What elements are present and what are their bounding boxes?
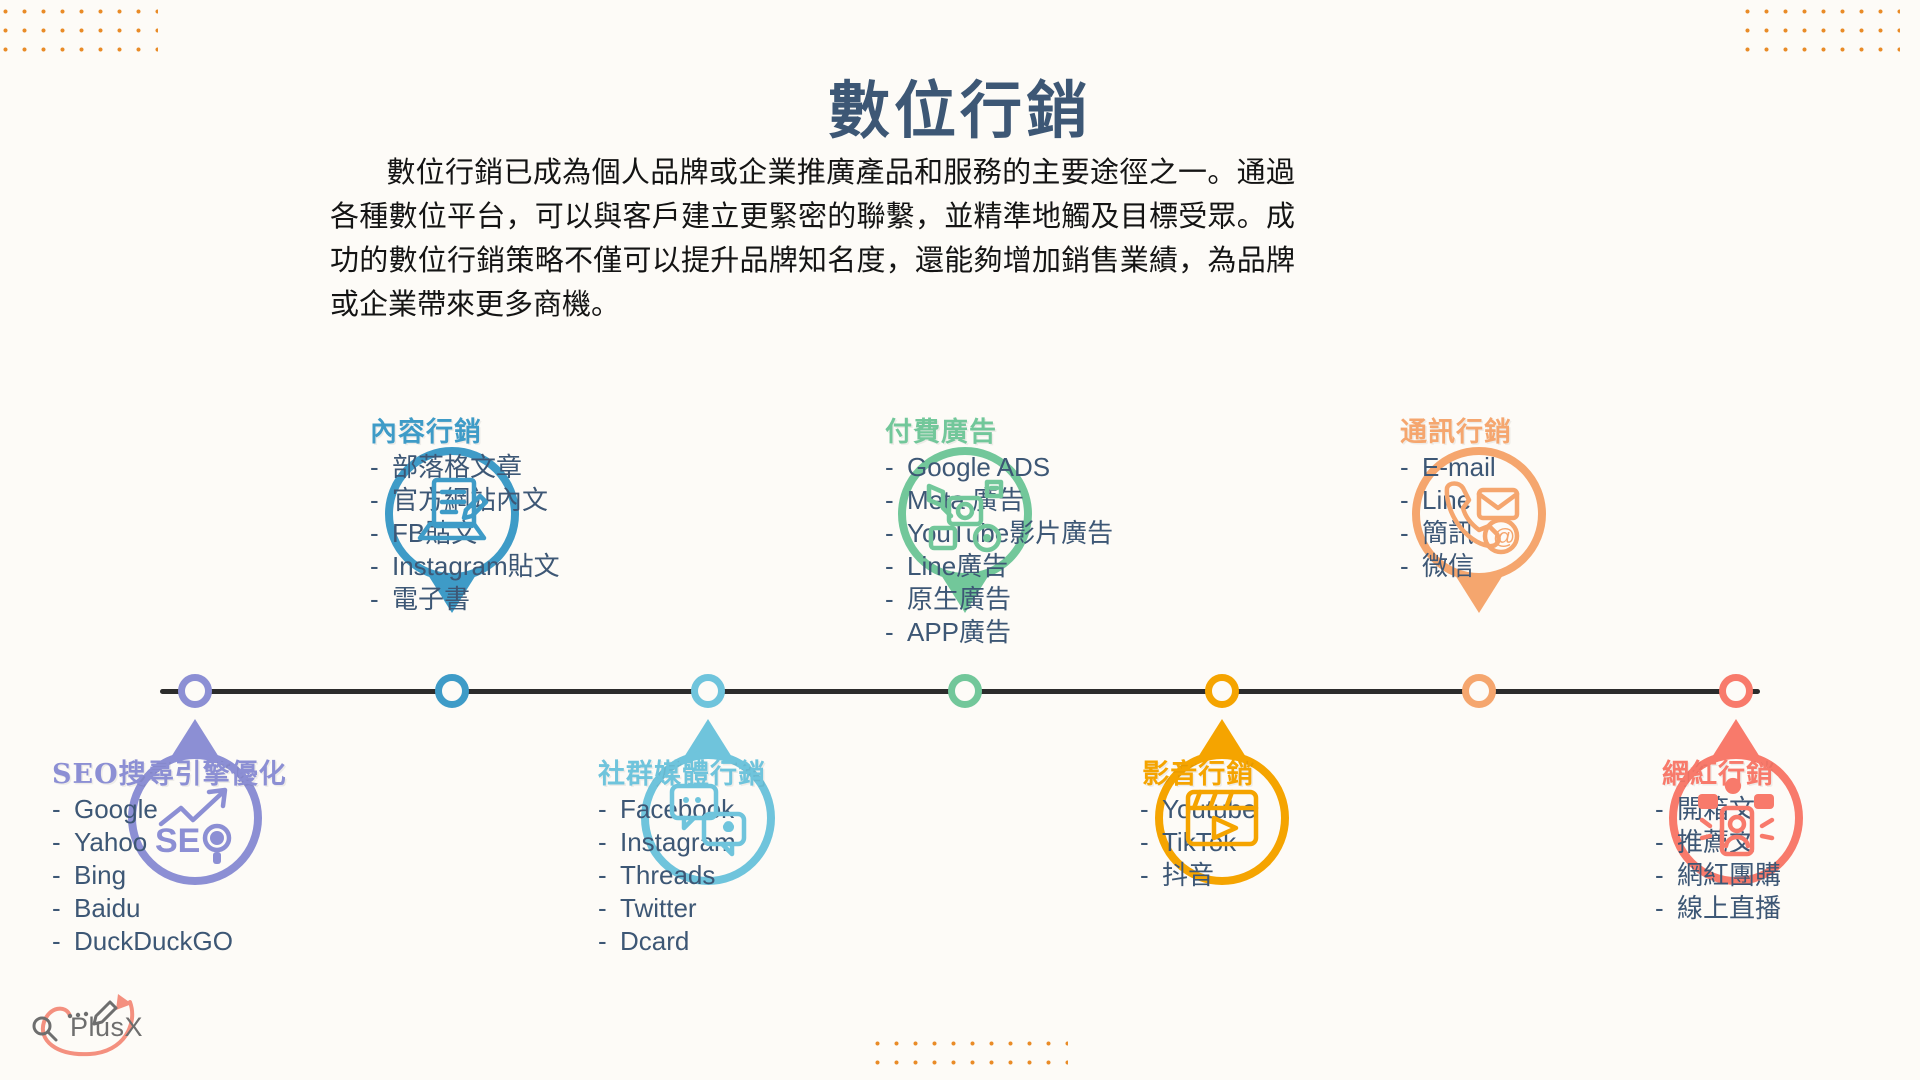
timeline-node-social[interactable] — [691, 674, 725, 708]
pin-influencer[interactable] — [1669, 751, 1803, 885]
logo-text: PlusX — [70, 1012, 143, 1043]
decor-dots-top-left — [0, 2, 158, 64]
timeline-node-messaging[interactable] — [1462, 674, 1496, 708]
pin-social[interactable] — [641, 751, 775, 885]
decor-dots-bottom-center — [868, 1034, 1068, 1078]
phone-email-icon: @ — [1412, 447, 1546, 581]
list-item: 原生廣告 — [885, 583, 1113, 616]
list-item: 線上直播 — [1655, 892, 1781, 925]
section-title-paid-ads: 付費廣告 — [885, 410, 1113, 449]
timeline-node-influencer[interactable] — [1719, 674, 1753, 708]
svg-text:@: @ — [1493, 524, 1515, 549]
timeline-node-seo[interactable] — [178, 674, 212, 708]
timeline-node-content[interactable] — [435, 674, 469, 708]
video-play-icon — [1155, 751, 1289, 885]
page-title: 數位行銷 — [0, 60, 1920, 150]
timeline-node-paid-ads[interactable] — [948, 674, 982, 708]
list-item: DuckDuckGO — [52, 925, 287, 958]
list-item: Baidu — [52, 892, 287, 925]
svg-text:SE: SE — [155, 822, 200, 860]
section-title-messaging: 通訊行銷 — [1400, 410, 1512, 449]
pin-seo[interactable]: SE — [128, 751, 262, 885]
pin-content[interactable] — [385, 447, 519, 581]
list-item: APP廣告 — [885, 616, 1113, 649]
influencer-phone-icon — [1669, 751, 1803, 885]
laptop-writing-icon — [385, 447, 519, 581]
pin-paid-ads[interactable] — [898, 447, 1032, 581]
plusx-logo: PlusX — [18, 990, 168, 1064]
list-item: Dcard — [598, 925, 766, 958]
section-title-content: 內容行銷 — [370, 410, 560, 449]
decor-dots-top-right — [1738, 2, 1900, 64]
ad-megaphone-screen-icon — [898, 447, 1032, 581]
infographic-canvas: 數位行銷 數位行銷已成為個人品牌或企業推廣產品和服務的主要途徑之一。通過各種數位… — [0, 0, 1920, 1080]
pin-video[interactable] — [1155, 751, 1289, 885]
seo-growth-chart-icon: SE — [128, 751, 262, 885]
chat-bubbles-icon — [641, 751, 775, 885]
list-item: 電子書 — [370, 583, 560, 616]
pin-messaging[interactable]: @ — [1412, 447, 1546, 581]
list-item: Twitter — [598, 892, 766, 925]
timeline-node-video[interactable] — [1205, 674, 1239, 708]
intro-paragraph: 數位行銷已成為個人品牌或企業推廣產品和服務的主要途徑之一。通過各種數位平台，可以… — [330, 150, 1295, 326]
